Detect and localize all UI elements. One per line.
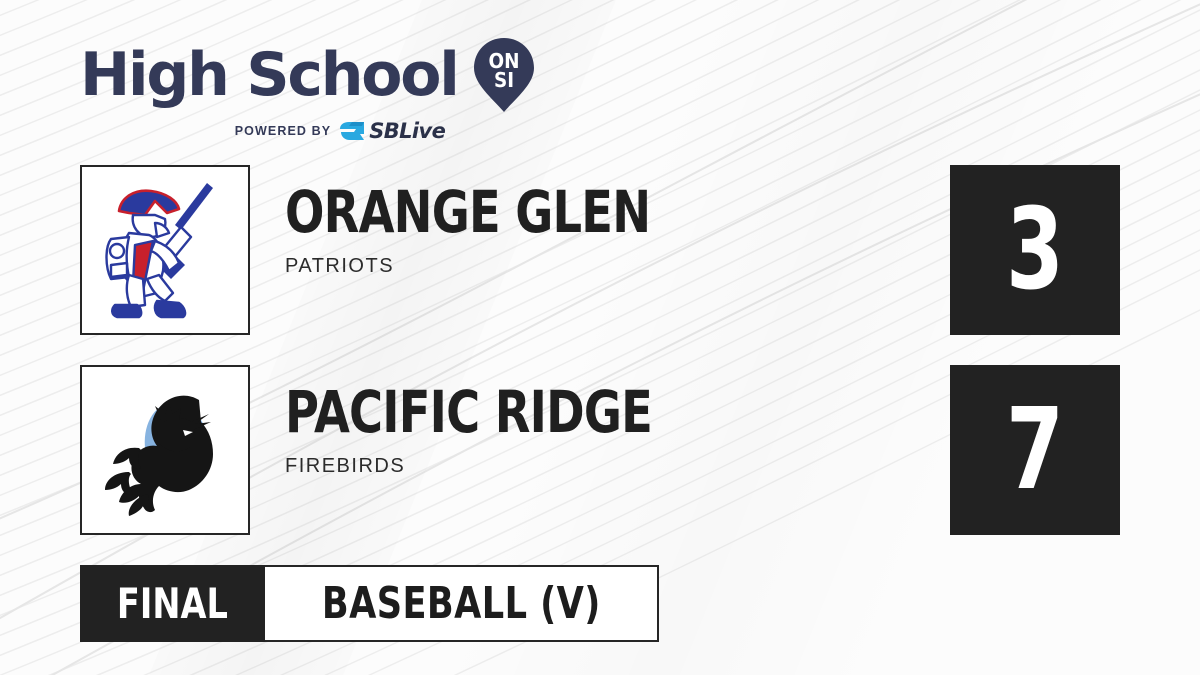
sport-label: BASEBALL (V) <box>322 582 601 626</box>
game-state-badge: FINAL <box>80 565 265 642</box>
team-score-box: 7 <box>950 365 1120 535</box>
team-name: ORANGE GLEN <box>285 183 650 241</box>
team-mascot: PATRIOTS <box>285 255 742 278</box>
game-state-label: FINAL <box>117 583 228 625</box>
team-score-box: 3 <box>950 165 1120 335</box>
sport-badge: BASEBALL (V) <box>265 565 660 642</box>
team-name: PACIFIC RIDGE <box>285 383 652 441</box>
team-mascot: FIREBIRDS <box>285 455 744 478</box>
patriot-minuteman-logo-icon <box>95 175 235 325</box>
powered-by-row: POWERED BY SBLive <box>130 120 550 142</box>
pin-text-si: SI <box>494 68 514 92</box>
team-text-block: PACIFIC RIDGE FIREBIRDS <box>285 383 744 478</box>
team-logo-orange-glen <box>80 165 250 335</box>
team-row: PACIFIC RIDGE FIREBIRDS 7 <box>80 365 1120 535</box>
team-text-block: ORANGE GLEN PATRIOTS <box>285 183 742 278</box>
sblive-logo: SBLive <box>340 120 445 142</box>
firebird-logo-icon <box>95 380 235 520</box>
sblive-wordmark: SBLive <box>369 121 445 142</box>
team-score: 3 <box>1006 194 1064 306</box>
team-logo-pacific-ridge <box>80 365 250 535</box>
status-bar: FINAL BASEBALL (V) <box>80 565 659 642</box>
powered-by-label: POWERED BY <box>235 124 331 138</box>
sblive-s-mark-icon <box>340 120 366 142</box>
on-si-pin-icon: ON SI <box>472 36 536 114</box>
brand-title-row: High School ON SI <box>80 36 550 114</box>
team-row: ORANGE GLEN PATRIOTS 3 <box>80 165 1120 335</box>
brand-title: High School <box>80 45 458 105</box>
team-score: 7 <box>1006 394 1064 506</box>
brand-header: High School ON SI POWERED BY SBLive <box>80 36 550 142</box>
